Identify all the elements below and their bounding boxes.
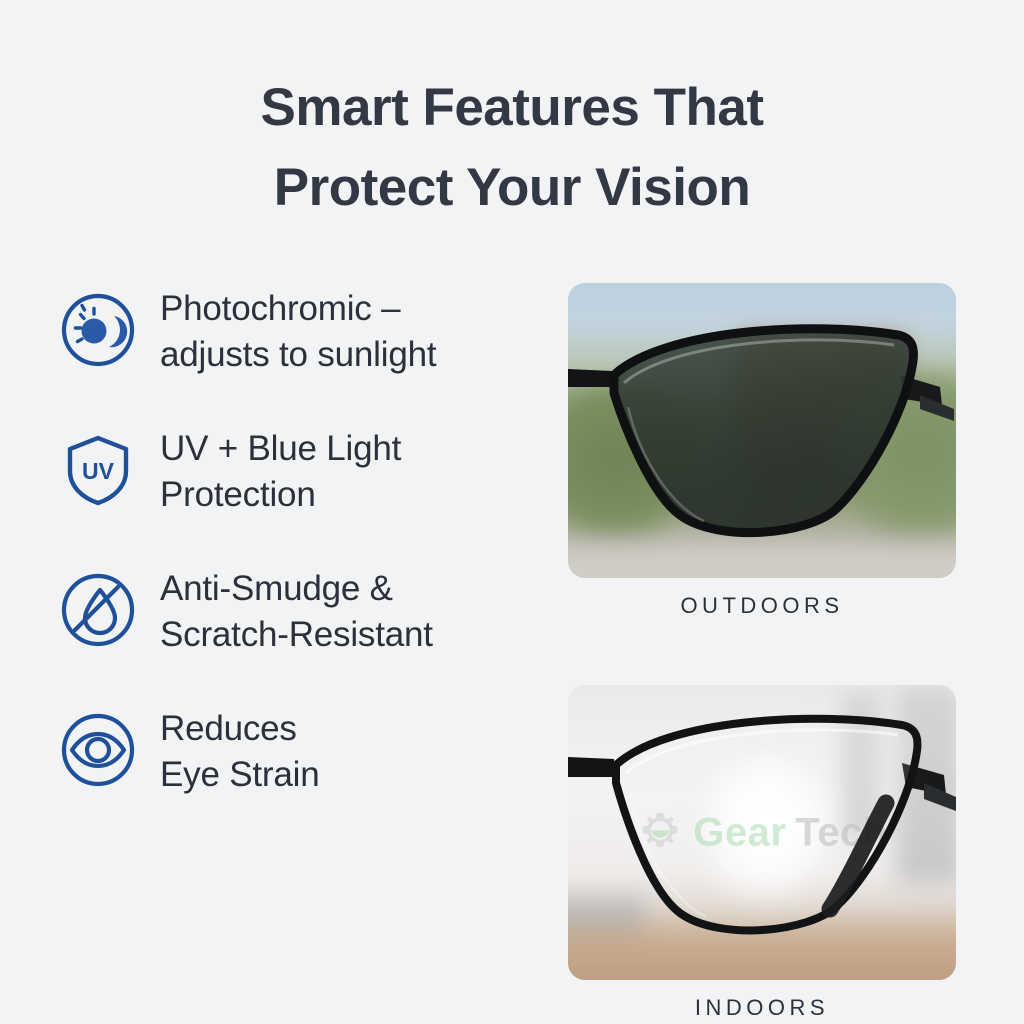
no-water-droplet-icon	[56, 568, 140, 652]
feature-item-uv-protection: UV UV + Blue Light Protection	[56, 422, 546, 518]
page-title-line-1: Smart Features That	[0, 68, 1024, 148]
sunglasses-tinted	[568, 283, 956, 578]
feature-item-photochromic: Photochromic – adjusts to sunlight	[56, 282, 546, 378]
feature-label-uv-protection: UV + Blue Light Protection	[160, 422, 401, 517]
page-title: Smart Features That Protect Your Vision	[0, 68, 1024, 227]
page-title-line-2: Protect Your Vision	[0, 148, 1024, 228]
photo-caption-indoors: INDOORS	[568, 995, 956, 1021]
product-photo-outdoors	[568, 283, 956, 578]
uv-shield-icon: UV	[56, 428, 140, 512]
eyeglasses-clear	[568, 685, 956, 980]
photochromic-sun-moon-icon	[56, 288, 140, 372]
photo-block-outdoors: OUTDOORS	[568, 283, 956, 619]
product-photo-indoors: Gear Tech	[568, 685, 956, 980]
uv-shield-text: UV	[82, 458, 115, 484]
product-photo-column: OUTDOORS	[568, 283, 956, 1021]
feature-list: Photochromic – adjusts to sunlight UV UV…	[56, 282, 546, 798]
photo-block-indoors: Gear Tech	[568, 685, 956, 1021]
feature-label-photochromic: Photochromic – adjusts to sunlight	[160, 282, 436, 377]
feature-item-anti-smudge: Anti-Smudge & Scratch-Resistant	[56, 562, 546, 658]
feature-label-anti-smudge: Anti-Smudge & Scratch-Resistant	[160, 562, 433, 657]
eye-icon	[56, 708, 140, 792]
infographic-page: Smart Features That Protect Your Vision	[0, 0, 1024, 1024]
feature-item-eye-strain: Reduces Eye Strain	[56, 702, 546, 798]
photo-caption-outdoors: OUTDOORS	[568, 593, 956, 619]
feature-label-eye-strain: Reduces Eye Strain	[160, 702, 319, 797]
